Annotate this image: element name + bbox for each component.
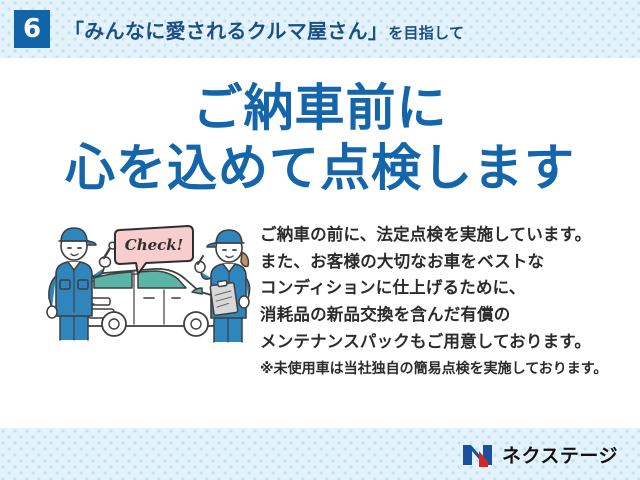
body-line-4: 消耗品の新品交換を含んだ有償の: [260, 302, 626, 329]
illustration-svg: Check!: [46, 212, 256, 347]
inspection-banner: 6 「みんなに愛されるクルマ屋さん」 を目指して ご納車前に 心を込めて点検しま…: [0, 0, 640, 480]
header-title: 「みんなに愛されるクルマ屋さん」 を目指して: [64, 15, 464, 44]
nextage-logo-mark-icon: [461, 441, 495, 467]
header-title-tail: を目指して: [388, 22, 464, 43]
check-bubble-label: Check!: [125, 236, 184, 254]
headline-line-2: 心を込めて点検します: [0, 140, 640, 196]
banner-main: ご納車前に 心を込めて点検します: [0, 58, 640, 428]
banner-header: 6 「みんなに愛されるクルマ屋さん」 を目指して: [0, 0, 640, 58]
body-line-5: メンテナンスパックもご用意しております。: [260, 329, 626, 356]
body-line-1: ご納車の前に、法定点検を実施しています。: [260, 222, 626, 249]
section-number-badge: 6: [14, 10, 50, 48]
header-title-main: 「みんなに愛されるクルマ屋さん」: [64, 15, 388, 44]
page-title: ご納車前に 心を込めて点検します: [0, 58, 640, 196]
body-note: ※未使用車は当社独自の簡易点検を実施しております。: [260, 357, 626, 380]
van-graphic: [86, 269, 216, 336]
body-line-3: コンディションに仕上げるために、: [260, 275, 626, 302]
banner-footer: ネクステージ: [0, 428, 640, 480]
nextage-logo: ネクステージ: [461, 441, 618, 468]
body-line-2: また、お客様の大切なお車をベストな: [260, 249, 626, 276]
headline-line-1: ご納車前に: [0, 80, 640, 136]
mechanics-illustration: Check!: [46, 212, 256, 347]
body-copy: ご納車の前に、法定点検を実施しています。 また、お客様の大切なお車をベストな コ…: [256, 212, 626, 379]
nextage-logo-text: ネクステージ: [502, 441, 618, 468]
content-row: Check! ご納車の前に、法定点検を実施しています。 また、お客様の大切なお車…: [0, 212, 640, 379]
